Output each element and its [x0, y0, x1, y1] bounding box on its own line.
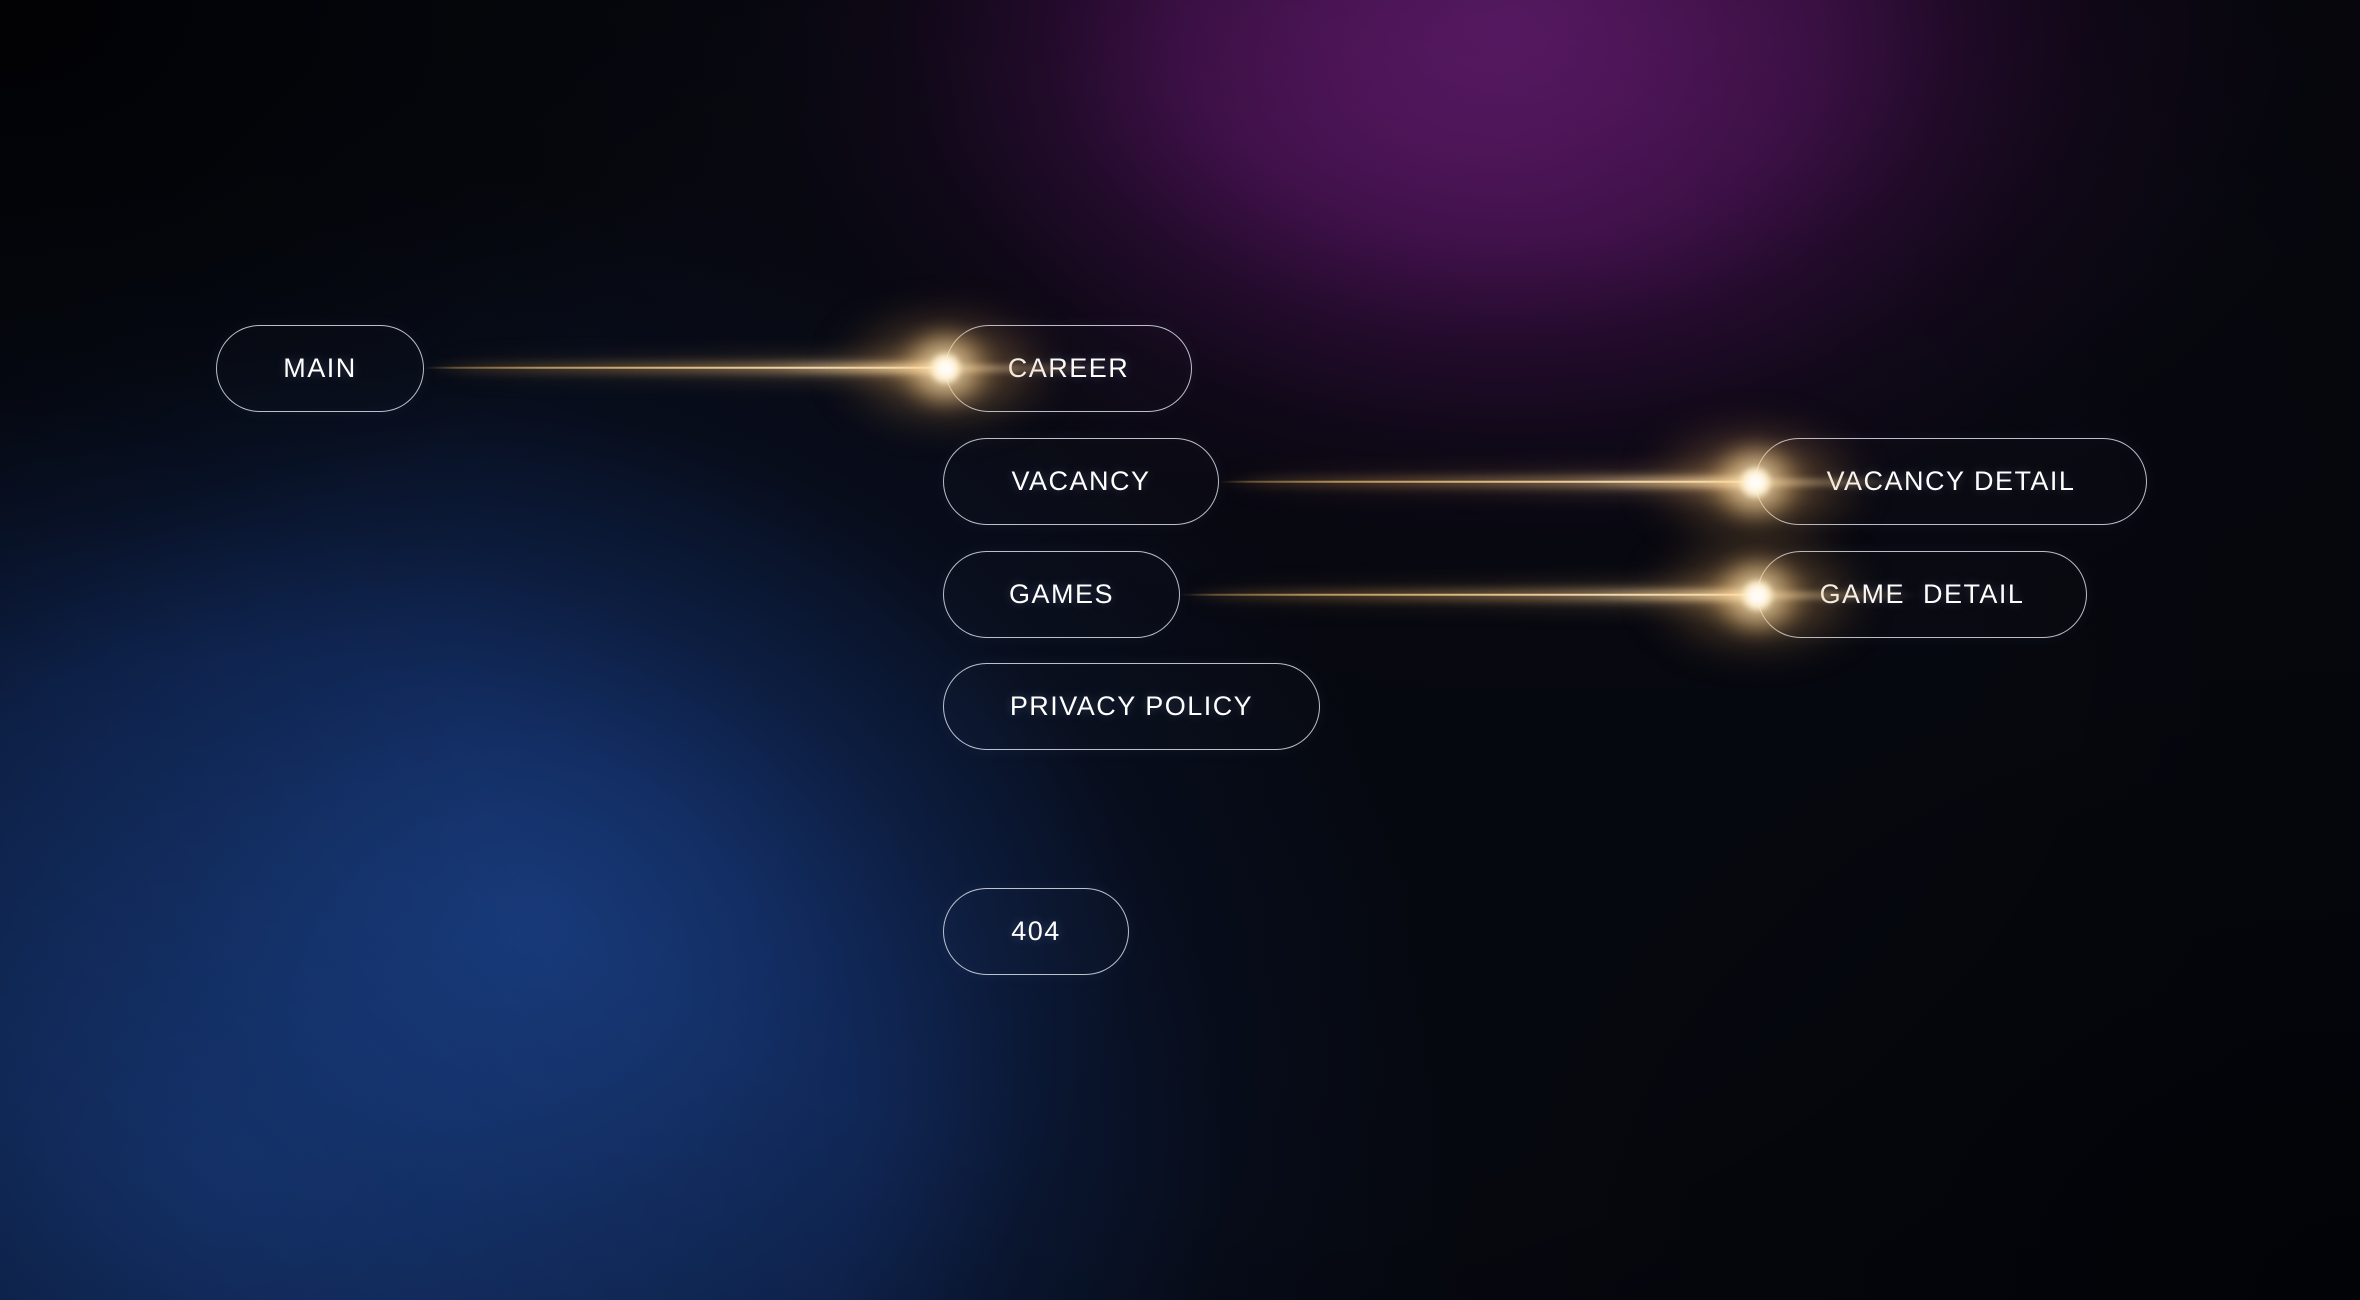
- page-node-vacancy-detail[interactable]: VACANCY DETAIL: [1755, 438, 2147, 525]
- beam-halo: [1180, 590, 1757, 601]
- beam-core: [424, 367, 945, 369]
- background-blue-glow: [0, 0, 2360, 1300]
- beam-wash: [424, 355, 945, 381]
- background-vignette: [0, 0, 2360, 1300]
- beam-core: [1219, 481, 1755, 483]
- page-node-game-detail[interactable]: GAME DETAIL: [1757, 551, 2087, 638]
- page-node-career[interactable]: CAREER: [945, 325, 1192, 412]
- connector-vacancy-to-vacancy-detail: [1219, 469, 1755, 495]
- page-node-main[interactable]: MAIN: [216, 325, 424, 412]
- beam-wash: [1219, 469, 1755, 495]
- page-node-games[interactable]: GAMES: [943, 551, 1180, 638]
- page-node-privacy-policy[interactable]: PRIVACY POLICY: [943, 663, 1320, 750]
- background-dark-corners: [0, 0, 2360, 1300]
- sitemap-canvas: MAIN CAREER VACANCY GAMES PRIVACY POLICY…: [0, 0, 2360, 1300]
- beam-halo: [424, 363, 945, 374]
- page-node-404[interactable]: 404: [943, 888, 1129, 975]
- connector-games-to-game-detail: [1180, 582, 1757, 608]
- background-purple-glow-soft: [0, 0, 2360, 1300]
- background-purple-glow: [0, 0, 2360, 1300]
- beam-wash: [1180, 582, 1757, 608]
- beam-core: [1180, 594, 1757, 596]
- background-blue-glow-soft: [0, 0, 2360, 1300]
- beam-halo: [1219, 477, 1755, 488]
- background-base: [0, 0, 2360, 1300]
- connector-main-to-career: [424, 355, 945, 381]
- page-node-vacancy[interactable]: VACANCY: [943, 438, 1219, 525]
